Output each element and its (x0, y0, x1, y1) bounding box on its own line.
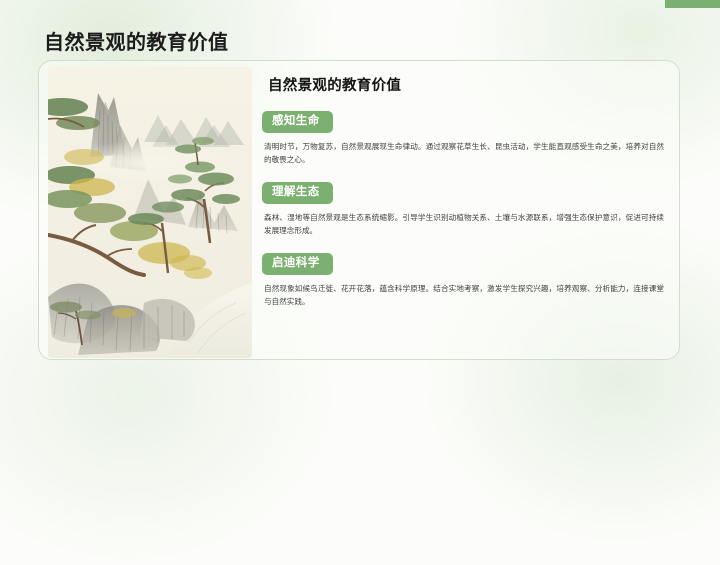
card-heading: 自然景观的教育价值 (268, 74, 670, 95)
section-body-3: 自然现象如候鸟迁徙、花开花落，蕴含科学原理。结合实地考察，激发学生探究兴趣，培养… (264, 282, 664, 309)
section-badge-3: 启迪科学 (262, 253, 333, 275)
section-badge-1: 感知生命 (262, 111, 333, 133)
section-body-1: 清明时节，万物复苏，自然景观展现生命律动。通过观察花草生长、昆虫活动，学生能直观… (264, 140, 664, 167)
section-perceive-life: 感知生命 清明时节，万物复苏，自然景观展现生命律动。通过观察花草生长、昆虫活动，… (262, 111, 670, 166)
section-badge-2: 理解生态 (262, 182, 333, 204)
landscape-illustration (48, 67, 252, 358)
section-inspire-science: 启迪科学 自然现象如候鸟迁徙、花开花落，蕴含科学原理。结合实地考察，激发学生探究… (262, 253, 670, 308)
text-panel: 自然景观的教育价值 感知生命 清明时节，万物复苏，自然景观展现生命律动。通过观察… (262, 68, 670, 309)
top-accent-bar (665, 0, 720, 8)
page-title: 自然景观的教育价值 (44, 26, 229, 55)
section-body-2: 森林、湿地等自然景观是生态系统缩影。引导学生识别动植物关系、土壤与水源联系，增强… (264, 211, 664, 238)
section-understand-ecology: 理解生态 森林、湿地等自然景观是生态系统缩影。引导学生识别动植物关系、土壤与水源… (262, 182, 670, 237)
